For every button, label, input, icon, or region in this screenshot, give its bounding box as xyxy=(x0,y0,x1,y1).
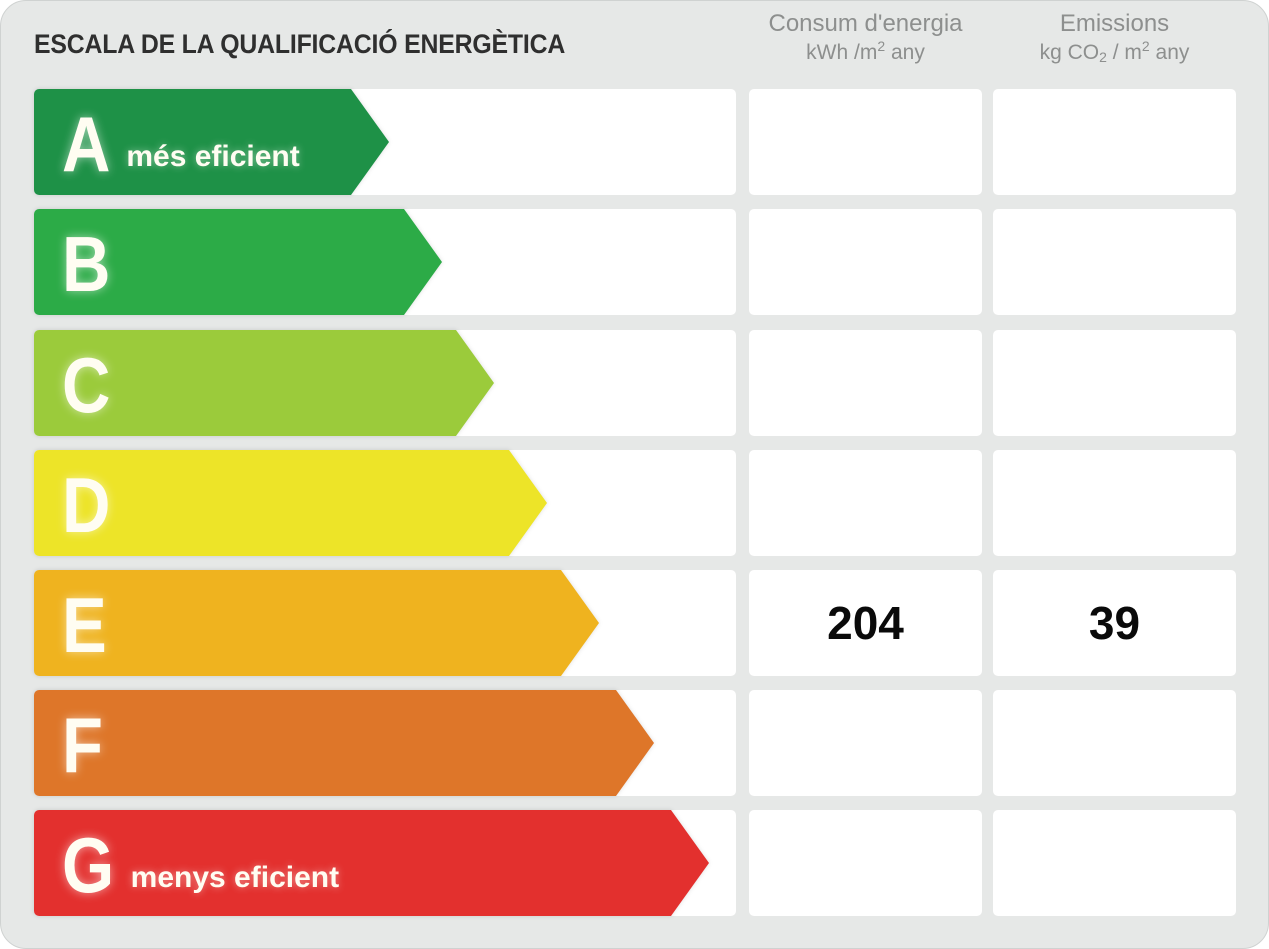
energy-value-cell-d xyxy=(749,450,982,556)
emissions-value-cell-d xyxy=(993,450,1236,556)
energy-value-cell-g xyxy=(749,810,982,916)
rating-row-a: Amés eficient xyxy=(1,89,1269,195)
energy-value-cell-a xyxy=(749,89,982,195)
grade-note-a: més eficient xyxy=(126,140,299,174)
rating-row-g: Gmenys eficient xyxy=(1,810,1269,916)
grade-letter-a: A xyxy=(62,105,110,183)
emissions-value-cell-g xyxy=(993,810,1236,916)
energy-value-cell-c xyxy=(749,330,982,436)
energy-value-cell-f xyxy=(749,690,982,796)
emissions-value-cell-f xyxy=(993,690,1236,796)
rating-bar-e: E xyxy=(34,570,561,676)
label-header: ESCALA DE LA QUALIFICACIÓ ENERGÈTICA Con… xyxy=(1,1,1269,89)
emissions-value: 39 xyxy=(1089,596,1140,650)
grade-letter-b: B xyxy=(62,225,110,303)
rating-bar-c: C xyxy=(34,330,456,436)
column-header-emissions-unit: kg CO2 / m2 any xyxy=(993,39,1236,68)
grade-letter-g: G xyxy=(62,826,114,904)
page-title: ESCALA DE LA QUALIFICACIÓ ENERGÈTICA xyxy=(34,29,565,60)
rating-bar-d: D xyxy=(34,450,509,556)
grade-note-g: menys eficient xyxy=(131,861,339,895)
grade-letter-e: E xyxy=(62,586,107,664)
energy-value-cell-b xyxy=(749,209,982,315)
column-header-emissions-name: Emissions xyxy=(993,9,1236,39)
rating-bar-f: F xyxy=(34,690,616,796)
energy-rating-label: ESCALA DE LA QUALIFICACIÓ ENERGÈTICA Con… xyxy=(0,0,1269,949)
column-header-energy-name: Consum d'energia xyxy=(749,9,982,39)
emissions-value-cell-a xyxy=(993,89,1236,195)
rating-row-e: E20439 xyxy=(1,570,1269,676)
emissions-value-cell-c xyxy=(993,330,1236,436)
energy-value: 204 xyxy=(827,596,904,650)
column-header-energy-unit: kWh /m2 any xyxy=(749,39,982,68)
rating-bar-g: Gmenys eficient xyxy=(34,810,671,916)
emissions-value-cell-e: 39 xyxy=(993,570,1236,676)
emissions-value-cell-b xyxy=(993,209,1236,315)
grade-letter-f: F xyxy=(62,706,103,784)
rating-row-c: C xyxy=(1,330,1269,436)
rating-bar-b: B xyxy=(34,209,404,315)
rating-row-d: D xyxy=(1,450,1269,556)
column-header-emissions: Emissions kg CO2 / m2 any xyxy=(993,9,1236,68)
rating-row-f: F xyxy=(1,690,1269,796)
column-header-energy: Consum d'energia kWh /m2 any xyxy=(749,9,982,68)
rating-row-b: B xyxy=(1,209,1269,315)
grade-letter-c: C xyxy=(62,346,110,424)
grade-letter-d: D xyxy=(62,466,110,544)
energy-value-cell-e: 204 xyxy=(749,570,982,676)
rating-bar-a: Amés eficient xyxy=(34,89,351,195)
